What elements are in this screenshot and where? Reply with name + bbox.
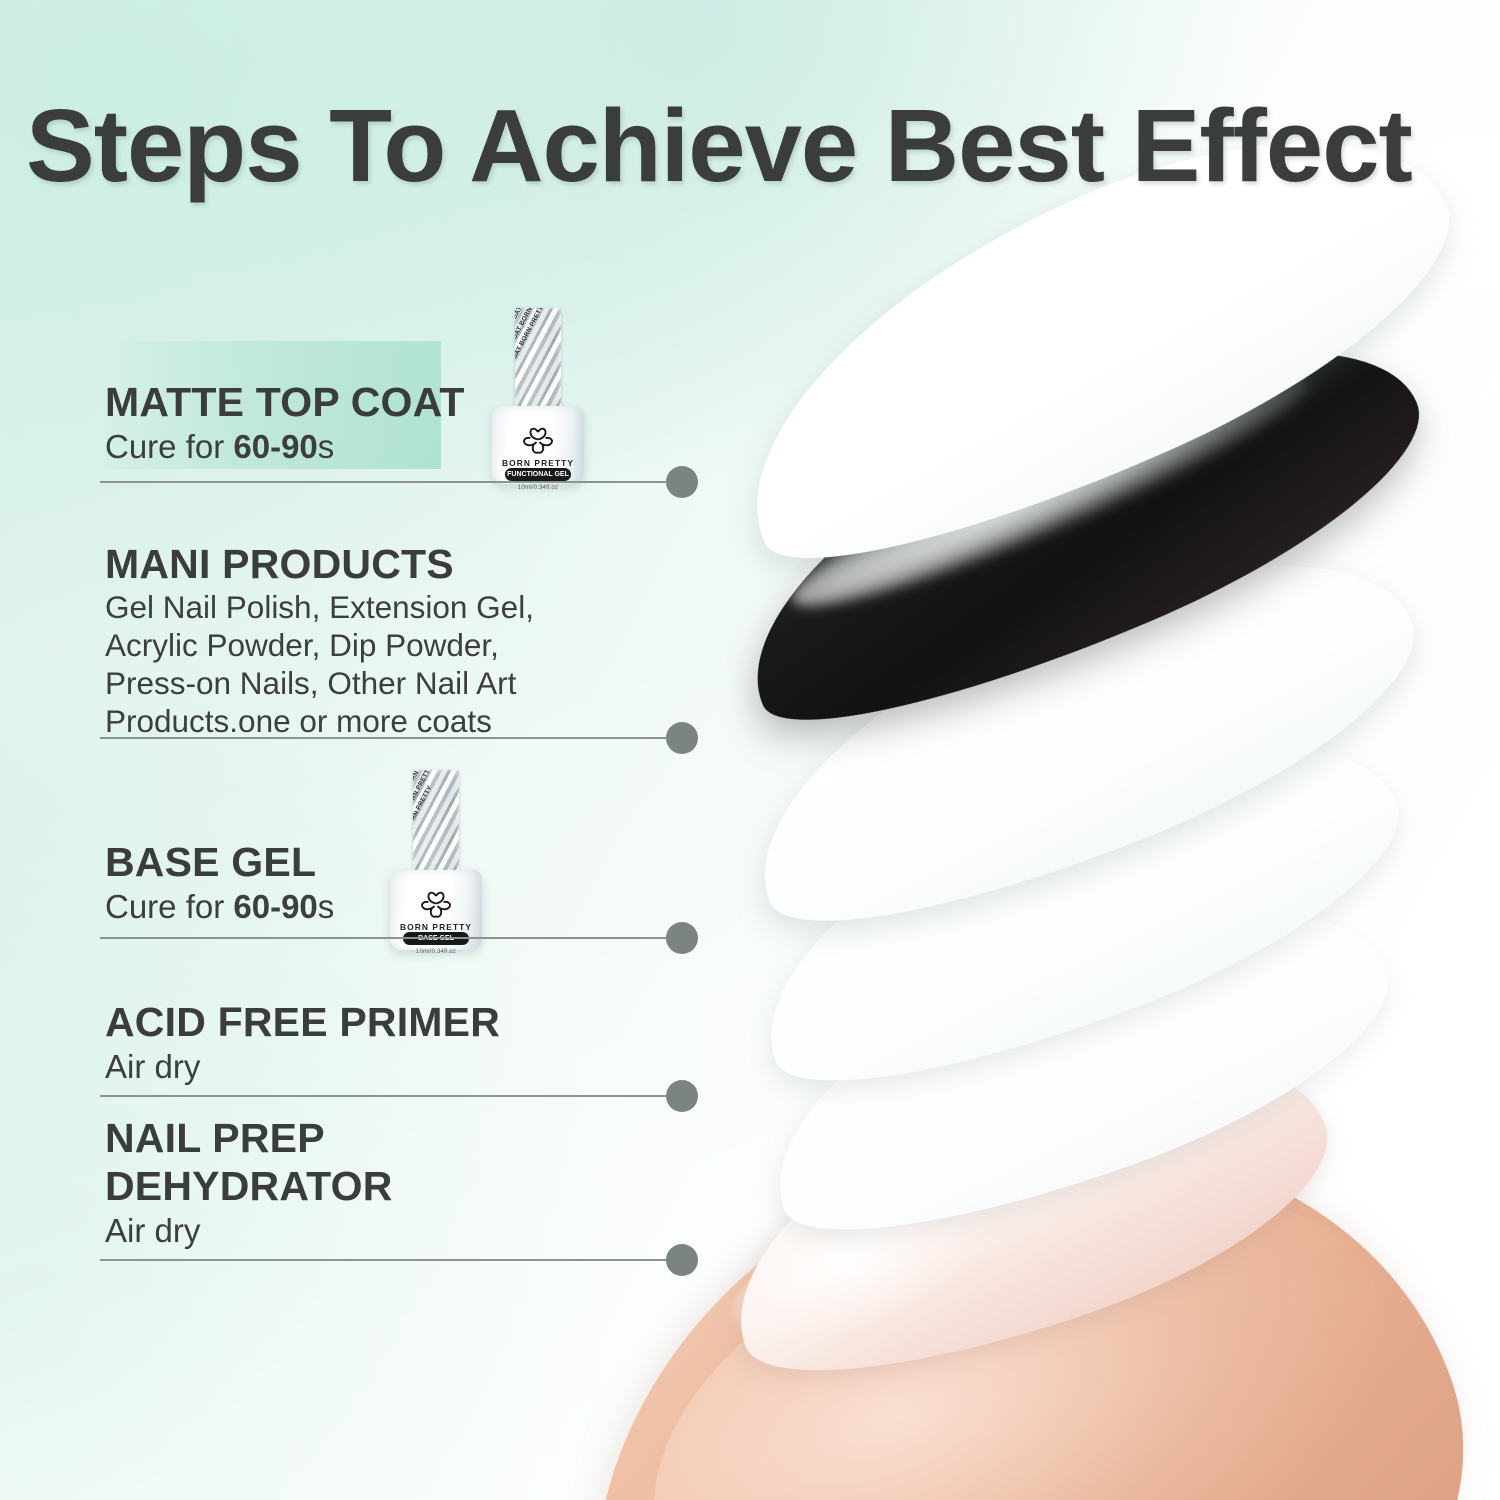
bottle-cap: MATTE TOP COAT BORN PRETTY MATTE TOP COA… [515, 308, 561, 416]
bottle-size: 10ml/0.34fl.oz [376, 949, 496, 955]
cure-suffix: s [318, 888, 335, 925]
step-base-gel: BASE GEL Cure for 60-90s [0, 838, 720, 928]
step-mani-products: MANI PRODUCTS Gel Nail Polish, Extension… [0, 540, 720, 740]
connector-line [100, 1095, 675, 1097]
connector-dot [666, 922, 698, 954]
step-title-mani-products: MANI PRODUCTS [0, 540, 720, 588]
step-acid-free-primer: ACID FREE PRIMER Air dry [0, 998, 720, 1088]
step-title-nail-prep-dehydrator: NAIL PREP DEHYDRATOR [0, 1114, 720, 1210]
step-sub-matte-top-coat: Cure for 60-90s [0, 426, 720, 468]
connector-dot [666, 722, 698, 754]
connector-line [100, 737, 675, 739]
cure-prefix: Cure for [105, 888, 233, 925]
step-title-matte-top-coat: MATTE TOP COAT [0, 378, 720, 426]
cure-prefix: Cure for [105, 428, 233, 465]
born-pretty-flower-icon [416, 890, 456, 920]
connector-dot [666, 466, 698, 498]
born-pretty-flower-icon [518, 426, 558, 456]
cure-duration: 60-90 [233, 888, 317, 925]
page-title: Steps To Achieve Best Effect [26, 96, 1486, 196]
step-title-base-gel: BASE GEL [0, 838, 720, 886]
step-sub-acid-free-primer: Air dry [0, 1046, 720, 1088]
bottle-cap: BASE GEL BORN PRETTY BASE GEL BORN PRETT… [413, 770, 459, 880]
bottle-brand: BORN PRETTY [376, 922, 496, 932]
step-matte-top-coat: MATTE TOP COAT Cure for 60-90s [0, 378, 720, 468]
bottle-cap-text: BASE GEL BORN PRETTY BASE GEL BORN PRETT… [413, 770, 459, 880]
connector-line [100, 481, 675, 483]
step-title-acid-free-primer: ACID FREE PRIMER [0, 998, 720, 1046]
bottle-size: 10ml/0.34fl.oz [478, 485, 598, 491]
bottle-label: FUNCTIONAL GEL [505, 468, 571, 481]
bottle-cap-text: MATTE TOP COAT BORN PRETTY MATTE TOP COA… [515, 308, 561, 416]
base-gel-bottle: BASE GEL BORN PRETTY BASE GEL BORN PRETT… [376, 770, 496, 950]
connector-dot [666, 1080, 698, 1112]
cure-duration: 60-90 [233, 428, 317, 465]
matte-top-coat-bottle: MATTE TOP COAT BORN PRETTY MATTE TOP COA… [478, 308, 598, 484]
cure-suffix: s [318, 428, 335, 465]
bottle-brand: BORN PRETTY [478, 458, 598, 468]
step-description-mani-products: Gel Nail Polish, Extension Gel, Acrylic … [0, 588, 720, 740]
connector-line [100, 1259, 675, 1261]
connector-line [100, 937, 675, 939]
step-sub-base-gel: Cure for 60-90s [0, 886, 720, 928]
step-sub-nail-prep-dehydrator: Air dry [0, 1210, 720, 1252]
step-nail-prep-dehydrator: NAIL PREP DEHYDRATOR Air dry [0, 1114, 720, 1252]
connector-dot [666, 1244, 698, 1276]
nail-layer-stack [0, 0, 1500, 1500]
